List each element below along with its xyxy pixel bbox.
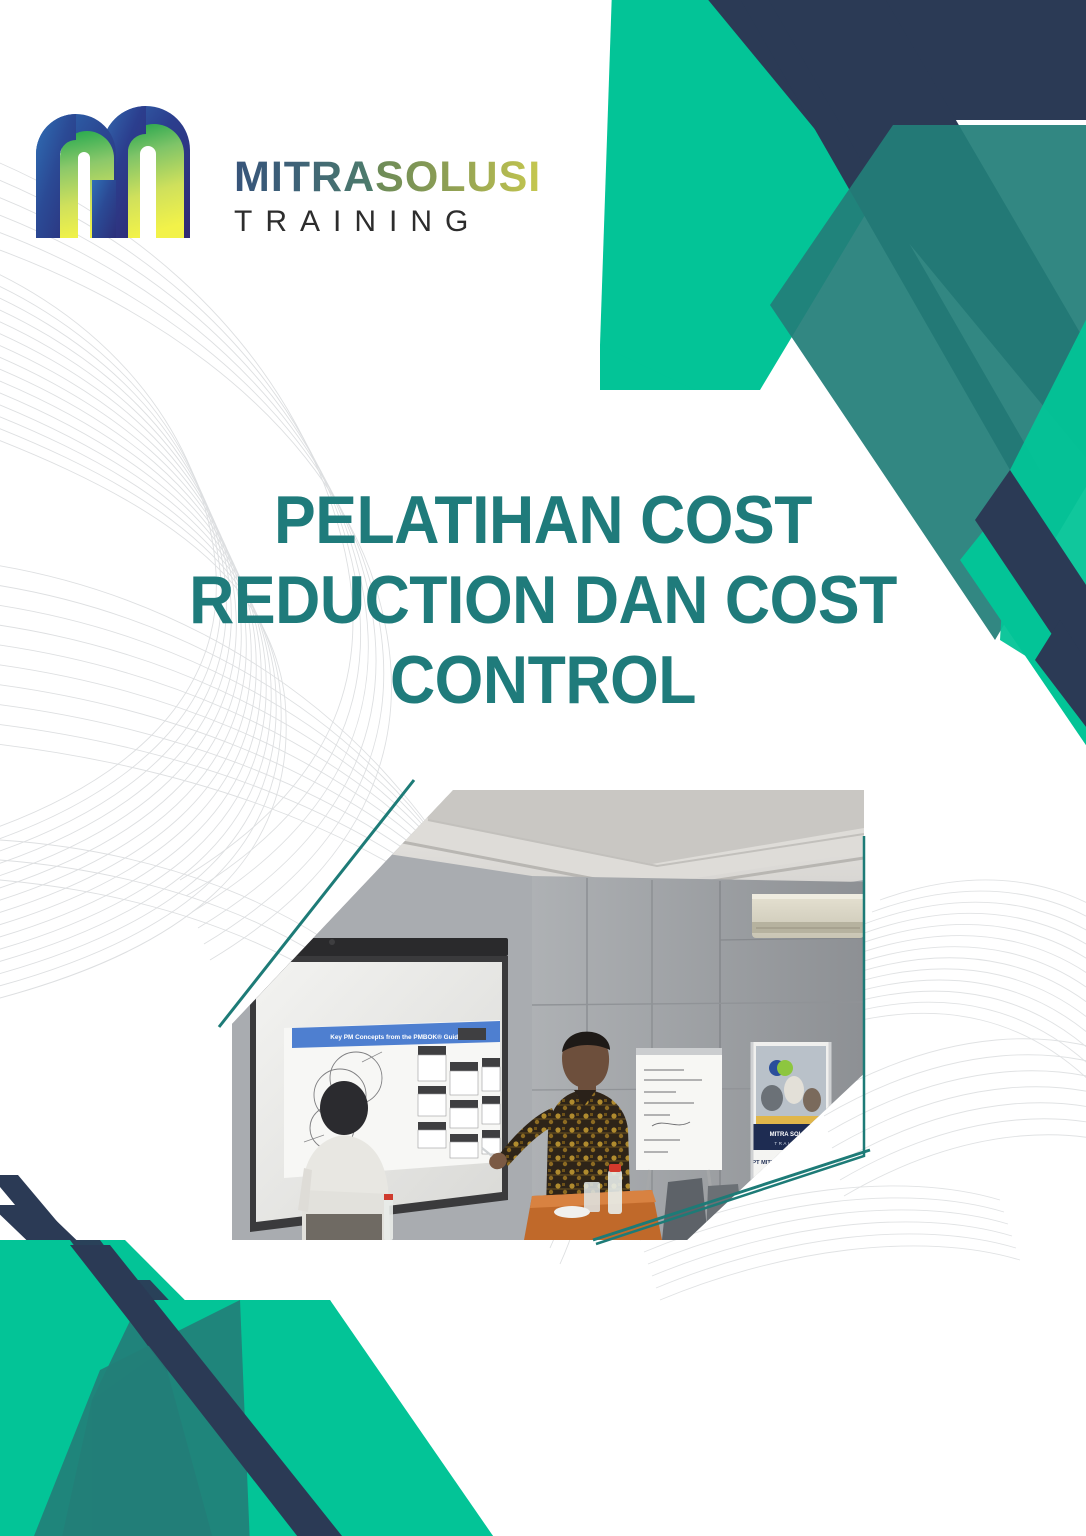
roll-up-banner: MITRA SOLUSI TRAINING PT MITRA SOLUSI TR… xyxy=(752,1042,830,1220)
mitra-solusi-m-monogram-icon xyxy=(24,88,220,248)
brand-name-solusi: SOLUSI xyxy=(375,156,541,199)
brand-name-mitra: MITRA xyxy=(234,156,375,199)
brand-logo: MITRA SOLUSI TRAINING xyxy=(24,88,541,248)
brand-name: MITRA SOLUSI xyxy=(234,156,541,199)
page-title-line-2: REDUCTION DAN COST xyxy=(99,560,988,640)
page-title-line-1: PELATIHAN COST xyxy=(99,480,988,560)
water-bottle-left xyxy=(384,1194,393,1240)
brand-wordmark: MITRA SOLUSI TRAINING xyxy=(234,156,541,249)
svg-text:Meningkatkan Kapasitas SDM: Meningkatkan Kapasitas SDM xyxy=(763,1178,820,1183)
banner-heading-text: MITRA SOLUSI xyxy=(770,1132,813,1138)
training-photo: Key PM Concepts from the PMBOK® Guide xyxy=(232,790,864,1240)
banner-subheading-text: TRAINING xyxy=(774,1141,807,1146)
training-photo-image: Key PM Concepts from the PMBOK® Guide xyxy=(232,790,864,1240)
banner-tagline-text: Solusi Cerdas dalam xyxy=(772,1170,811,1175)
slide-title-text: Key PM Concepts from the PMBOK® Guide xyxy=(330,1033,462,1041)
page-title: PELATIHAN COST REDUCTION DAN COST CONTRO… xyxy=(43,480,1042,721)
banner-company-text: PT MITRA SOLUSI TRAINING xyxy=(752,1160,829,1166)
air-conditioner-icon xyxy=(752,894,864,938)
training-photo-frame: Key PM Concepts from the PMBOK® Guide xyxy=(232,790,864,1240)
page-title-line-3: CONTROL xyxy=(99,640,988,720)
cover-page: MITRA SOLUSI TRAINING PELATIHAN COST RED… xyxy=(0,0,1086,1536)
brand-subtitle: TRAINING xyxy=(234,203,541,241)
